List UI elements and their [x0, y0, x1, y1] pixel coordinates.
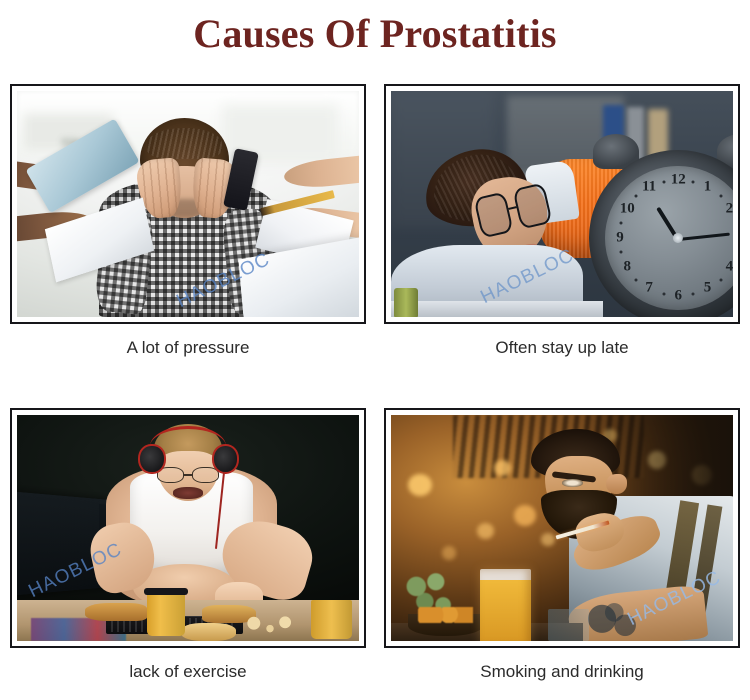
fast-food-pizza — [85, 603, 147, 621]
headset-earcup-right — [212, 444, 239, 473]
bokeh-light — [477, 523, 494, 539]
alarm-clock: 12 1 2 3 4 5 6 7 8 9 10 11 — [589, 150, 733, 317]
clock-numeral-12: 12 — [671, 172, 686, 189]
cause-card-pressure: HAOBLOC A lot of pressure — [10, 84, 366, 366]
cause-card-stay-up-late: 12 1 2 3 4 5 6 7 8 9 10 11 — [384, 84, 740, 366]
fast-food-hotdog — [181, 623, 236, 641]
forearm-tattoo — [583, 603, 651, 639]
clock-numeral-6: 6 — [675, 287, 683, 304]
open-mouth — [173, 487, 204, 498]
clock-numeral-4: 4 — [726, 258, 733, 275]
photo-stressed-man: HAOBLOC — [17, 91, 359, 317]
photo-frame-pressure: HAOBLOC — [10, 84, 366, 324]
caption-lack-of-exercise: lack of exercise — [10, 661, 366, 683]
food-crumbs — [243, 616, 298, 634]
clock-tick — [691, 293, 694, 296]
headset-earcup-left — [138, 444, 165, 473]
infographic-page: Causes Of Prostatitis — [0, 0, 750, 700]
causes-grid: HAOBLOC A lot of pressure — [10, 84, 740, 690]
photo-frame-stay-up-late: 12 1 2 3 4 5 6 7 8 9 10 11 — [384, 84, 740, 324]
caption-a-lot-of-pressure: A lot of pressure — [10, 337, 366, 359]
photo-tired-man: 12 1 2 3 4 5 6 7 8 9 10 11 — [391, 91, 733, 317]
cause-card-lack-of-exercise: HAOBLOC lack of exercise — [10, 408, 366, 690]
desk-surface — [391, 301, 603, 317]
photo-smoking-drinking-man: HAOBLOC — [391, 415, 733, 641]
clock-tick — [634, 194, 637, 197]
desk-bottle — [394, 288, 418, 317]
clock-tick — [634, 278, 637, 281]
clock-tick — [719, 194, 722, 197]
clock-numeral-10: 10 — [620, 200, 635, 217]
beer-glass — [480, 569, 531, 641]
clock-numeral-11: 11 — [642, 179, 656, 196]
clock-numeral-2: 2 — [726, 200, 733, 217]
page-title: Causes Of Prostatitis — [0, 8, 750, 60]
eyeglass-bridge — [507, 207, 516, 211]
bokeh-light — [514, 505, 536, 525]
clock-minute-hand — [678, 232, 731, 240]
photo-frame-lack-of-exercise: HAOBLOC — [10, 408, 366, 648]
coffee-cup-lid — [144, 588, 188, 595]
man-ear — [606, 474, 627, 494]
clock-tick — [662, 180, 665, 183]
cause-card-smoking-and-drinking: HAOBLOC Smoking and drinking — [384, 408, 740, 690]
clock-numeral-1: 1 — [704, 179, 712, 196]
caption-smoking-and-drinking: Smoking and drinking — [384, 661, 740, 683]
man-eye — [562, 479, 583, 486]
clock-tick — [691, 180, 694, 183]
clock-tick — [620, 222, 623, 225]
clock-numeral-9: 9 — [616, 229, 624, 246]
bokeh-light — [541, 533, 555, 547]
bokeh-light — [408, 474, 432, 497]
coffee-cup — [147, 591, 185, 636]
bokeh-light — [494, 460, 511, 476]
caption-often-stay-up-late: Often stay up late — [384, 337, 740, 359]
photo-overweight-gamer: HAOBLOC — [17, 415, 359, 641]
clock-numeral-5: 5 — [704, 280, 712, 297]
clock-tick — [620, 251, 623, 254]
eyeglass-bridge — [184, 474, 191, 476]
clock-center-pin — [673, 233, 683, 243]
clock-numeral-7: 7 — [645, 280, 653, 297]
clock-numeral-8: 8 — [623, 258, 631, 275]
background-glassware — [548, 609, 589, 641]
clock-tick — [719, 278, 722, 281]
bokeh-light — [442, 546, 456, 560]
eyeglasses — [157, 467, 219, 483]
photo-frame-smoking-and-drinking: HAOBLOC — [384, 408, 740, 648]
oranges — [418, 607, 473, 623]
soda-cup — [311, 600, 352, 638]
clock-tick — [662, 293, 665, 296]
